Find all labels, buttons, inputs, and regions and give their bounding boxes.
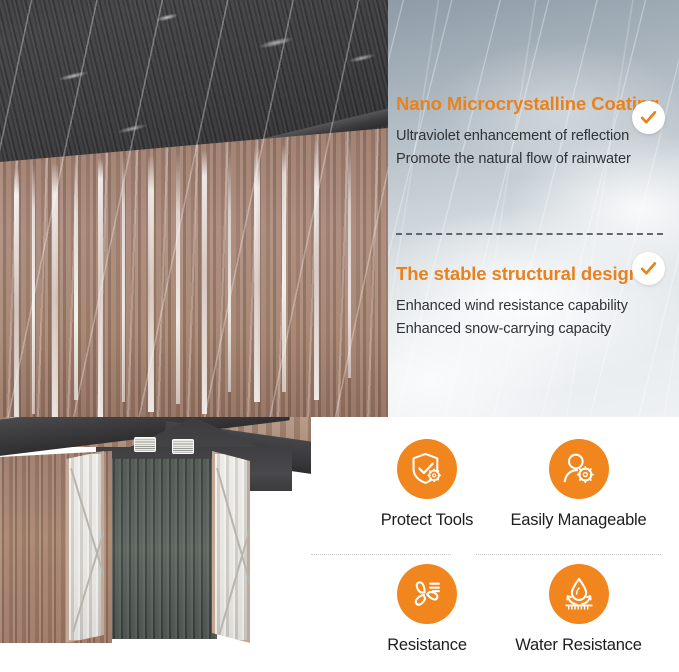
benefit-resistance[interactable]: Resistance	[347, 564, 507, 655]
photo-rain-overlay	[0, 0, 388, 417]
feature-title: The stable structural design	[396, 262, 664, 285]
benefit-label: Water Resistance	[515, 636, 641, 655]
shield-gear-icon	[408, 450, 446, 488]
benefit-label: Easily Manageable	[510, 511, 646, 530]
check-icon	[639, 108, 658, 127]
water-droplet-repel-icon	[560, 575, 598, 613]
ventilation-fan-icon	[408, 575, 446, 613]
feature-line: Ultraviolet enhancement of reflection	[396, 125, 664, 148]
shed-door-right	[212, 451, 250, 643]
shed-door-left	[66, 451, 104, 643]
grid-divider-horizontal-right	[476, 554, 661, 555]
rain-streaks-overlay-secondary	[380, 0, 679, 417]
photo-ground	[0, 643, 311, 672]
check-badge-coating	[632, 101, 665, 134]
product-infographic: Nano Microcrystalline Coating Ultraviole…	[0, 0, 679, 672]
benefit-icon-wrapper	[397, 564, 457, 624]
feature-line: Enhanced wind resistance capability	[396, 295, 664, 318]
benefit-icon-wrapper	[549, 564, 609, 624]
feature-line: Promote the natural flow of rainwater	[396, 148, 664, 171]
check-badge-structure	[632, 252, 665, 285]
feature-line: Enhanced snow-carrying capacity	[396, 318, 664, 341]
benefit-easily-manageable[interactable]: Easily Manageable	[496, 439, 661, 530]
feature-title: Nano Microcrystalline Coating	[396, 92, 664, 115]
benefit-water-resistance[interactable]: Water Resistance	[496, 564, 661, 655]
feature-block-coating: Nano Microcrystalline Coating Ultraviole…	[396, 92, 664, 170]
storage-shed-photo	[0, 417, 311, 672]
feature-block-structure: The stable structural design Enhanced wi…	[396, 262, 664, 340]
benefits-grid: Protect Tools	[311, 417, 679, 672]
benefit-label: Protect Tools	[381, 511, 473, 530]
shed-interior-wall	[103, 459, 217, 639]
shed-roof-rain-photo	[0, 0, 388, 417]
top-feature-section: Nano Microcrystalline Coating Ultraviole…	[0, 0, 679, 417]
section-divider	[396, 233, 663, 235]
bottom-benefits-section: Protect Tools	[0, 417, 679, 672]
person-gear-icon	[560, 450, 598, 488]
benefit-protect-tools[interactable]: Protect Tools	[347, 439, 507, 530]
check-icon	[639, 259, 658, 278]
shed-vent-right	[172, 439, 194, 454]
benefit-label: Resistance	[387, 636, 467, 655]
benefit-icon-wrapper	[397, 439, 457, 499]
grid-divider-horizontal-left	[311, 554, 451, 555]
shed-vent-left	[134, 437, 156, 452]
benefit-icon-wrapper	[549, 439, 609, 499]
